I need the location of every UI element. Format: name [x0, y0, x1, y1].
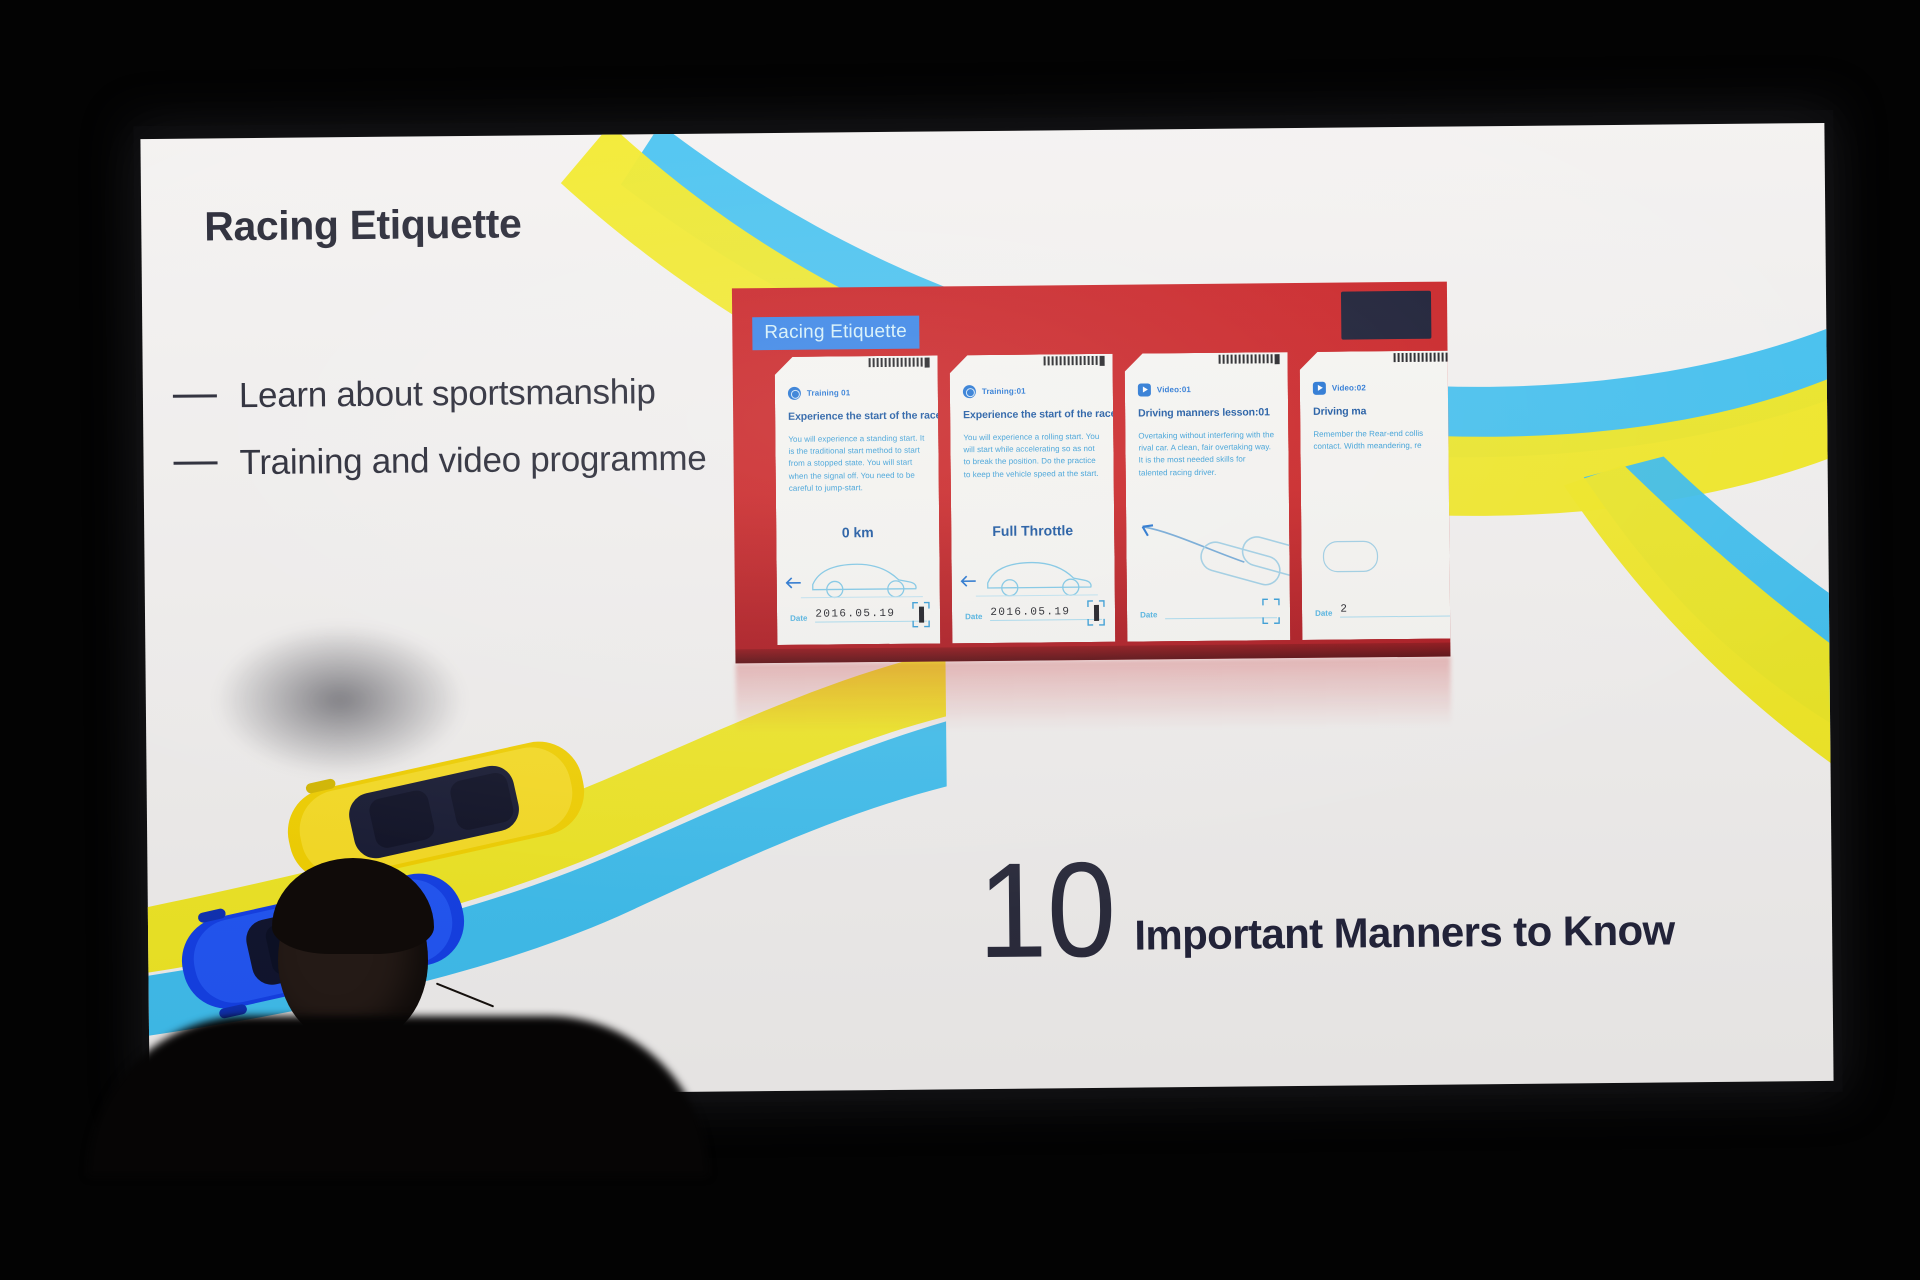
- scan-marker-icon: [912, 602, 930, 628]
- card-metric: 0 km: [776, 523, 939, 541]
- bullet-list: Learn about sportsmanship Training and v…: [173, 364, 707, 491]
- presenter-shoulders: [88, 1016, 708, 1176]
- date-label: Date: [1140, 610, 1157, 619]
- side-view-car-icon: [957, 540, 1108, 601]
- barcode-icon: [1394, 353, 1451, 364]
- side-view-car-icon: [782, 542, 933, 603]
- overtaking-cars-icon: [1132, 520, 1290, 600]
- steering-wheel-icon: [788, 387, 801, 400]
- barcode-icon: [1219, 354, 1280, 365]
- card-tag: Video:01: [1138, 382, 1275, 396]
- photo-scene: Racing Etiquette Learn about sportsmansh…: [0, 0, 1920, 1280]
- manners-count: 10: [977, 855, 1116, 967]
- date-label: Date: [1315, 609, 1332, 618]
- date-value: 2016.05.19: [815, 608, 927, 623]
- card-tag: Training:01: [963, 384, 1100, 398]
- date-value: 2016.05.19: [990, 606, 1102, 621]
- card-date-row: Date 2016.05.19: [790, 608, 927, 623]
- card-tag-label: Video:01: [1157, 385, 1191, 394]
- card-tag-label: Training:01: [982, 387, 1026, 396]
- date-label: Date: [790, 614, 807, 623]
- page-title: Racing Etiquette: [204, 200, 522, 250]
- brand-logo-plate: [1341, 291, 1431, 340]
- date-label: Date: [965, 612, 982, 621]
- card-deck: Training 01 Experience the start of the …: [775, 350, 1451, 645]
- card-body-text: You will experience a standing start. It…: [788, 432, 926, 495]
- scan-marker-icon: [1262, 598, 1280, 624]
- card-tag: Training 01: [788, 386, 925, 400]
- barcode-icon: [869, 358, 930, 369]
- poster-reflection: [736, 657, 1452, 734]
- footer-kicker: 10 Important Manners to Know: [977, 849, 1675, 966]
- card-heading: Experience the start of the race.: [788, 410, 925, 424]
- card-date-row: Date 2016.05.19: [965, 606, 1102, 621]
- presenter-cast-shadow: [175, 600, 505, 800]
- dash-bullet-icon: [173, 394, 217, 397]
- play-video-icon: [1313, 382, 1326, 395]
- video-card: Video:01 Driving manners lesson:01 Overt…: [1125, 352, 1291, 642]
- card-tag-label: Training 01: [807, 388, 850, 397]
- card-body-text: Remember the Rear-end collis contact. Wi…: [1313, 427, 1450, 453]
- scan-marker-icon: [1087, 600, 1105, 626]
- footer-label: Important Manners to Know: [1134, 906, 1675, 965]
- card-metric: Full Throttle: [951, 522, 1114, 540]
- bullet-label: Learn about sportsmanship: [239, 372, 656, 416]
- barcode-icon: [1044, 356, 1105, 367]
- card-heading: Driving ma: [1313, 405, 1450, 419]
- list-item: Training and video programme: [173, 431, 706, 491]
- card-heading: Driving manners lesson:01: [1138, 406, 1275, 420]
- car-top-view-icon: [1307, 526, 1450, 587]
- presenter-silhouette: [238, 866, 538, 1106]
- presenter-hair: [272, 858, 434, 954]
- list-item: Learn about sportsmanship: [173, 364, 706, 424]
- card-date-row: Date 2: [1315, 603, 1451, 618]
- card-heading: Experience the start of the race.: [963, 408, 1100, 422]
- date-value: 2: [1340, 603, 1450, 618]
- card-date-row: Date: [1140, 609, 1277, 619]
- training-card: Training:01 Experience the start of the …: [950, 354, 1116, 644]
- card-body-text: You will experience a rolling start. You…: [963, 430, 1100, 481]
- date-value: [1165, 616, 1277, 619]
- video-card: Video:02 Driving ma Remember the Rear-en…: [1300, 350, 1451, 640]
- bullet-label: Training and video programme: [239, 438, 706, 482]
- card-tag: Video:02: [1313, 381, 1450, 395]
- poster-badge: Racing Etiquette: [752, 316, 919, 351]
- training-card: Training 01 Experience the start of the …: [775, 355, 941, 645]
- card-body-text: Overtaking without interfering with the …: [1138, 429, 1275, 480]
- steering-wheel-icon: [963, 385, 976, 398]
- headset-mic-icon: [436, 982, 494, 1007]
- dash-bullet-icon: [174, 461, 218, 464]
- card-tag-label: Video:02: [1332, 383, 1366, 392]
- play-video-icon: [1138, 383, 1151, 396]
- racing-etiquette-poster: Racing Etiquette Training 01 Experience …: [732, 282, 1451, 664]
